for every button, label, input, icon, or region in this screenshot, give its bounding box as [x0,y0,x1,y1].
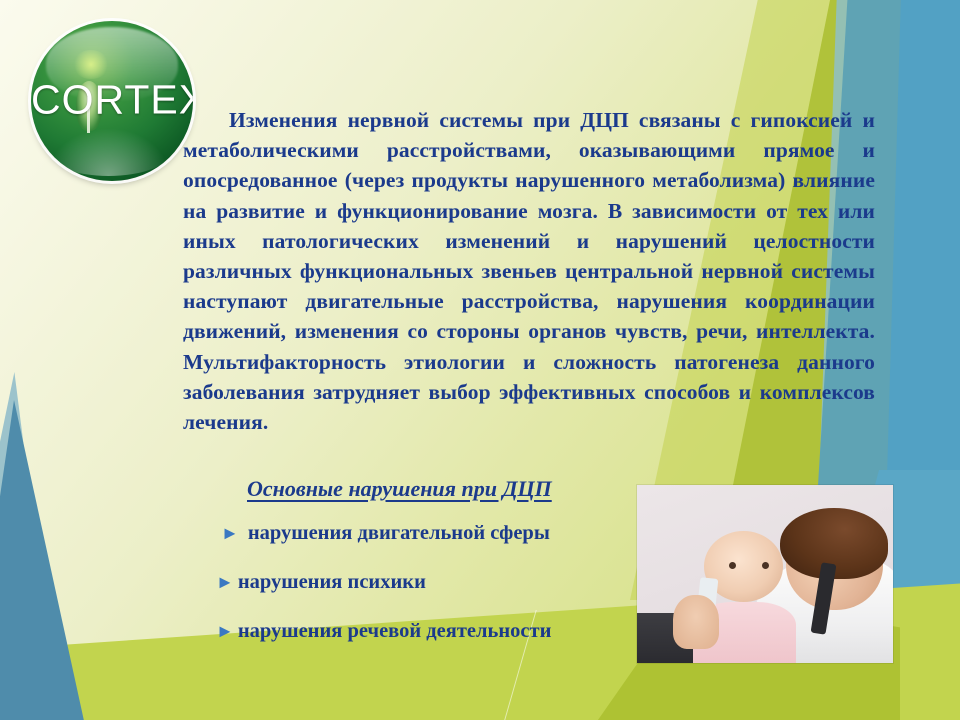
list-item: ► нарушения психики [216,571,636,620]
triangle-bullet-icon: ► [216,622,234,640]
photo-doctor-hand [673,595,719,648]
decorative-shape-left-wedge [0,400,86,720]
decorative-shape-left-wedge-light [0,372,60,720]
list-item-label: нарушения двигательной сферы [248,522,550,546]
sub-heading: Основные нарушения при ДЦП [247,476,552,502]
triangle-bullet-icon: ► [221,524,239,542]
doctor-holding-baby-photo [637,485,893,663]
list-item: ► нарушения речевой деятельности [216,620,636,669]
logo-gloss-bottom [47,128,170,176]
triangle-bullet-icon: ► [216,573,234,591]
cortex-logo: CORTEX [31,21,193,181]
list-item: ► нарушения двигательной сферы [216,522,636,571]
logo-wordmark: CORTEX [31,80,193,121]
logo-hotspot [73,50,109,79]
photo-baby-eye-left [729,562,736,569]
bullet-list: ► нарушения двигательной сферы ► нарушен… [216,522,636,669]
photo-baby-eye-right [762,562,769,569]
list-item-label: нарушения психики [238,571,426,595]
body-paragraph: Изменения нервной системы при ДЦП связан… [183,105,875,437]
presentation-slide: CORTEX Изменения нервной системы при ДЦП… [0,0,960,720]
list-item-label: нарушения речевой деятельности [238,620,552,644]
